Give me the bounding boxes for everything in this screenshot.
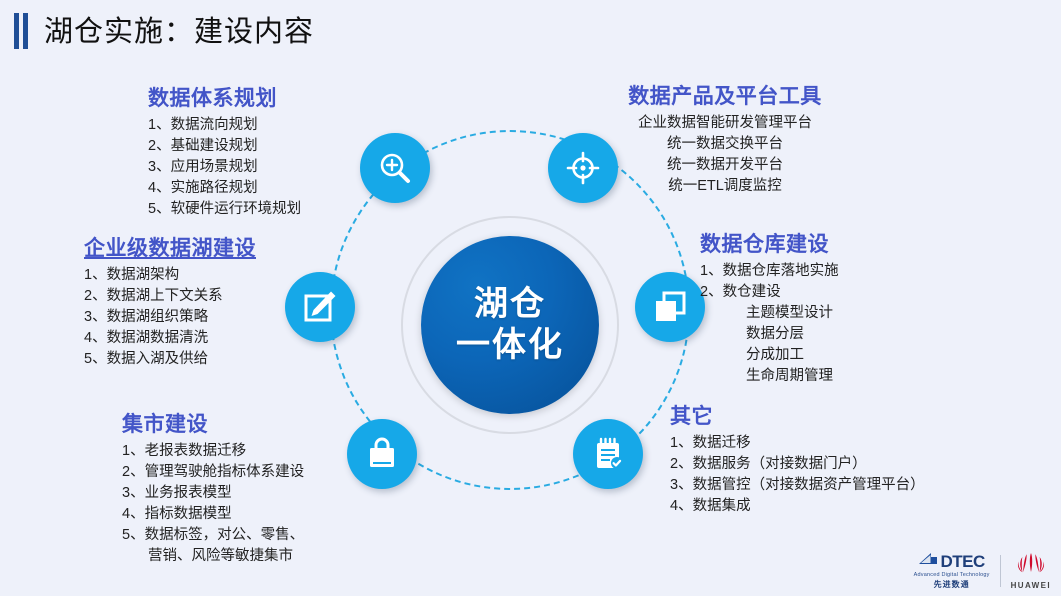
node-others[interactable] bbox=[573, 419, 643, 489]
block-list: 1、数据迁移 2、数据服务（对接数据门户） 3、数据管控（对接数据资产管理平台）… bbox=[670, 433, 925, 517]
block-heading: 其它 bbox=[670, 400, 925, 430]
block-heading: 集市建设 bbox=[122, 408, 304, 438]
dtec-logo: DTEC Advanced Digital Technology 先进数通 bbox=[914, 552, 990, 589]
copy-layers-icon bbox=[652, 289, 688, 325]
edit-pencil-square-icon bbox=[302, 289, 338, 325]
list-item: 1、老报表数据迁移 bbox=[122, 441, 304, 462]
notepad-check-icon bbox=[590, 436, 626, 472]
block-data-products-tools: 数据产品及平台工具 企业数据智能研发管理平台 统一数据交换平台 统一数据开发平台… bbox=[600, 80, 850, 197]
block-heading: 数据体系规划 bbox=[148, 82, 301, 112]
block-list: 1、数据湖架构 2、数据湖上下文关系 3、数据湖组织策略 4、数据湖数据清洗 5… bbox=[84, 265, 256, 370]
list-item: 3、数据管控（对接数据资产管理平台） bbox=[670, 475, 925, 496]
dtec-arrow-icon bbox=[918, 552, 938, 571]
list-item: 4、数据集成 bbox=[670, 496, 925, 517]
center-hub-line2: 一体化 bbox=[456, 325, 564, 366]
list-item: 4、指标数据模型 bbox=[122, 504, 304, 525]
block-heading: 数据产品及平台工具 bbox=[600, 80, 850, 110]
list-item: 3、数据湖组织策略 bbox=[84, 307, 256, 328]
block-list: 1、老报表数据迁移 2、管理驾驶舱指标体系建设 3、业务报表模型 4、指标数据模… bbox=[122, 441, 304, 567]
list-item: 1、数据仓库落地实施 bbox=[700, 261, 839, 282]
block-heading: 数据仓库建设 bbox=[700, 228, 839, 258]
dtec-tagline: Advanced Digital Technology bbox=[914, 573, 990, 579]
list-item-continuation: 营销、风险等敏捷集市 bbox=[122, 546, 304, 567]
center-hub: 湖仓 一体化 bbox=[421, 236, 599, 414]
node-data-lake-construction[interactable] bbox=[285, 272, 355, 342]
list-item: 统一ETL调度监控 bbox=[600, 176, 850, 197]
center-hub-line1: 湖仓 bbox=[474, 284, 546, 325]
list-item: 企业数据智能研发管理平台 bbox=[600, 113, 850, 134]
list-subitem: 数据分层 bbox=[700, 324, 839, 345]
list-item: 2、数仓建设 bbox=[700, 282, 839, 303]
block-mart-construction: 集市建设 1、老报表数据迁移 2、管理驾驶舱指标体系建设 3、业务报表模型 4、… bbox=[122, 408, 304, 567]
node-data-system-planning[interactable] bbox=[360, 133, 430, 203]
footer-logos: DTEC Advanced Digital Technology 先进数通 bbox=[914, 551, 1051, 590]
list-item: 2、管理驾驶舱指标体系建设 bbox=[122, 462, 304, 483]
slide-canvas: 湖仓实施：建设内容 湖仓 一体化 bbox=[0, 0, 1061, 596]
huawei-wordmark: HUAWEI bbox=[1011, 581, 1051, 590]
list-item: 2、数据湖上下文关系 bbox=[84, 286, 256, 307]
block-list: 企业数据智能研发管理平台 统一数据交换平台 统一数据开发平台 统一ETL调度监控 bbox=[600, 113, 850, 197]
list-item: 4、实施路径规划 bbox=[148, 178, 301, 199]
block-enterprise-data-lake: 企业级数据湖建设 1、数据湖架构 2、数据湖上下文关系 3、数据湖组织策略 4、… bbox=[84, 232, 256, 370]
list-subitem: 分成加工 bbox=[700, 345, 839, 366]
list-item: 3、应用场景规划 bbox=[148, 157, 301, 178]
list-item: 统一数据开发平台 bbox=[600, 155, 850, 176]
list-subitem: 主题模型设计 bbox=[700, 303, 839, 324]
list-item: 5、数据标签，对公、零售、 bbox=[122, 525, 304, 546]
dtec-wordmark: DTEC bbox=[940, 553, 984, 570]
node-data-warehouse-construction[interactable] bbox=[635, 272, 705, 342]
crosshair-target-icon bbox=[564, 149, 602, 187]
huawei-logo: HUAWEI bbox=[1011, 551, 1051, 590]
list-item: 1、数据湖架构 bbox=[84, 265, 256, 286]
list-item: 4、数据湖数据清洗 bbox=[84, 328, 256, 349]
block-list: 1、数据流向规划 2、基础建设规划 3、应用场景规划 4、实施路径规划 5、软硬… bbox=[148, 115, 301, 220]
logo-divider bbox=[1000, 555, 1001, 587]
dtec-chinese-name: 先进数通 bbox=[934, 581, 970, 589]
list-item: 1、数据流向规划 bbox=[148, 115, 301, 136]
magnifier-plus-icon bbox=[376, 149, 414, 187]
block-data-warehouse: 数据仓库建设 1、数据仓库落地实施 2、数仓建设 主题模型设计 数据分层 分成加… bbox=[700, 228, 839, 387]
list-item: 5、软硬件运行环境规划 bbox=[148, 199, 301, 220]
node-mart-construction[interactable] bbox=[347, 419, 417, 489]
huawei-flower-icon bbox=[1014, 551, 1048, 580]
shopping-bag-icon bbox=[364, 436, 400, 472]
list-item: 3、业务报表模型 bbox=[122, 483, 304, 504]
list-item: 1、数据迁移 bbox=[670, 433, 925, 454]
block-list: 1、数据仓库落地实施 2、数仓建设 主题模型设计 数据分层 分成加工 生命周期管… bbox=[700, 261, 839, 387]
list-item: 2、基础建设规划 bbox=[148, 136, 301, 157]
block-data-system-planning: 数据体系规划 1、数据流向规划 2、基础建设规划 3、应用场景规划 4、实施路径… bbox=[148, 82, 301, 220]
block-heading: 企业级数据湖建设 bbox=[84, 232, 256, 262]
list-item: 2、数据服务（对接数据门户） bbox=[670, 454, 925, 475]
list-item: 5、数据入湖及供给 bbox=[84, 349, 256, 370]
block-others: 其它 1、数据迁移 2、数据服务（对接数据门户） 3、数据管控（对接数据资产管理… bbox=[670, 400, 925, 517]
list-item: 统一数据交换平台 bbox=[600, 134, 850, 155]
list-subitem: 生命周期管理 bbox=[700, 366, 839, 387]
